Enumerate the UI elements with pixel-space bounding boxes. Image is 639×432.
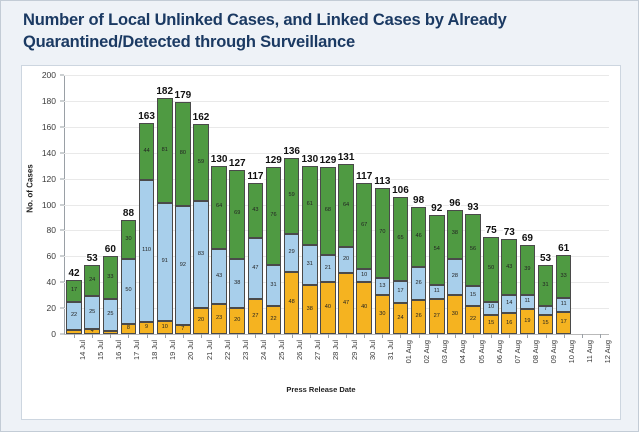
x-axis-tick-mark [237,334,238,338]
bar-column[interactable]: 22155693 [465,75,481,334]
bar-segment-value: 17 [397,289,403,295]
bar-segment-blue[interactable]: 20 [338,247,354,273]
bar-column[interactable]: 1573153 [538,75,554,334]
bar-segment-orange[interactable]: 20 [229,308,245,334]
bar-segment-orange[interactable]: 17 [556,312,572,334]
x-axis-tick-label: 03 Aug [440,340,449,363]
x-axis-tick-mark [74,334,75,338]
bar-total-label: 92 [431,203,443,214]
bar-column[interactable]: 16144373 [501,75,517,334]
bar-segment-value: 46 [415,234,421,240]
bar-segment-green[interactable]: 64 [211,166,227,249]
bar-segment-value: 26 [415,281,421,287]
bar-segment-orange[interactable]: 15 [483,315,499,334]
bar-segment-value: 24 [397,316,403,322]
bar-segment-value: 69 [234,211,240,217]
bar-segment-value: 20 [343,257,349,263]
bar-segment-value: 7 [544,307,547,313]
bar-segment-value: 70 [379,230,385,236]
bar-segment-green[interactable]: 31 [538,265,554,305]
bar-column[interactable]: 241765106 [393,75,409,334]
bar-segment-value: 20 [198,318,204,324]
y-axis-tick-label: 100 [22,200,56,210]
x-axis-tick-mark [147,334,148,338]
bar-column[interactable]: 223176129 [266,75,282,334]
x-axis-tick-mark [491,334,492,338]
bar-segment-value: 11 [524,299,530,305]
bar-column[interactable]: 17113361 [556,75,572,334]
bar-total-label: 162 [192,112,210,123]
x-axis-tick-mark [310,334,311,338]
bar-segment-blue[interactable]: 11 [429,285,445,299]
bar-segment-orange[interactable]: 40 [320,282,336,334]
x-axis-tick-label: 19 Jul [168,340,177,360]
bar-total-label: 106 [392,185,410,196]
bar-segment-orange[interactable]: 30 [375,295,391,334]
bar-segment-blue[interactable]: 31 [302,245,318,285]
bar-total-label: 136 [283,146,301,157]
x-axis-tick-label: 23 Jul [241,340,250,360]
y-axis-tick-label: 20 [22,303,56,313]
bar-column[interactable]: 79280179 [175,75,191,334]
bar-segment-value: 7 [181,327,184,333]
x-axis-tick-mark [546,334,547,338]
bar-series-container: 2217424252453253360850308891104416310918… [65,75,609,334]
bar-segment-orange[interactable]: 20 [193,308,209,334]
x-axis-tick-label: 02 Aug [422,340,431,363]
bar-segment-orange[interactable]: 47 [338,273,354,334]
bar-segment-value: 15 [542,321,548,327]
bar-segment-orange[interactable]: 22 [266,306,282,334]
x-axis-tick-mark [201,334,202,338]
bar-segment-green[interactable]: 43 [501,239,517,295]
bar-segment-green[interactable]: 56 [465,214,481,287]
x-axis-tick-label: 14 Jul [78,340,87,360]
x-axis-tick-label: 17 Jul [132,340,141,360]
x-axis-tick-label: 21 Jul [205,340,214,360]
x-axis-tick-mark [292,334,293,338]
bar-segment-value: 22 [470,317,476,323]
bar-total-label: 130 [210,154,228,165]
x-axis-tick-mark [110,334,111,338]
x-axis-tick-label: 27 Jul [313,340,322,360]
x-axis-title: Press Release Date [22,385,620,394]
bar-segment-value: 16 [506,321,512,327]
bar-segment-value: 50 [125,288,131,294]
bar-segment-value: 25 [89,310,95,316]
bar-total-label: 179 [174,90,192,101]
x-axis-tick-label: 08 Aug [531,340,540,363]
bar-column[interactable]: 30283896 [447,75,463,334]
bar-segment-orange[interactable]: 8 [121,324,137,334]
bar-segment-value: 30 [452,312,458,318]
bar-segment-orange[interactable]: 30 [447,295,463,334]
bar-segment-orange[interactable]: 48 [284,272,300,334]
bar-segment-value: 67 [361,223,367,229]
y-axis-tick-label: 160 [22,122,56,132]
bar-column[interactable]: 203869127 [229,75,245,334]
x-axis-tick-mark [274,334,275,338]
bar-segment-value: 31 [542,283,548,289]
x-axis-tick-mark [328,334,329,338]
y-axis-tick-label: 80 [22,225,56,235]
bar-total-label: 60 [104,244,116,255]
bar-segment-value: 10 [488,305,494,311]
bar-segment-value: 59 [289,193,295,199]
y-axis-tick-labels: 020406080100120140160180200 [22,66,62,336]
bar-segment-green[interactable]: 50 [483,237,499,302]
bar-total-label: 53 [539,253,551,264]
bar-segment-value: 38 [452,231,458,237]
x-axis-tick-label: 06 Aug [495,340,504,363]
bar-segment-blue[interactable]: 38 [229,259,245,308]
bar-segment-value: 17 [71,288,77,294]
bar-segment-green[interactable]: 43 [248,183,264,239]
bar-total-label: 42 [68,268,80,279]
bar-segment-value: 30 [379,312,385,318]
bar-column[interactable]: 911044163 [139,75,155,334]
y-axis-tick-label: 140 [22,148,56,158]
bar-segment-blue[interactable]: 83 [193,201,209,308]
bar-segment-value: 26 [415,314,421,320]
bar-total-label: 88 [122,208,134,219]
y-axis-tick-label: 120 [22,174,56,184]
bar-total-label: 73 [503,227,515,238]
bar-segment-value: 59 [198,160,204,166]
bar-total-label: 127 [228,158,246,169]
bar-segment-blue[interactable]: 50 [121,259,137,324]
bar-segment-orange[interactable]: 27 [429,299,445,334]
bar-segment-value: 10 [162,325,168,331]
bar-segment-green[interactable]: 59 [193,124,209,200]
bar-segment-value: 25 [107,312,113,318]
bar-segment-orange[interactable]: 10 [157,321,173,334]
x-axis-tick-labels: 14 Jul15 Jul16 Jul17 Jul18 Jul19 Jul20 J… [65,340,609,382]
x-axis-tick-mark [509,334,510,338]
bar-segment-orange[interactable]: 38 [302,285,318,334]
bar-total-label: 182 [156,86,174,97]
bar-segment-value: 22 [71,313,77,319]
chart-page: Number of Local Unlinked Cases, and Link… [0,0,639,432]
bar-segment-green[interactable]: 30 [121,220,137,259]
x-axis-tick-label: 07 Aug [513,340,522,363]
bar-segment-value: 31 [307,262,313,268]
bar-segment-blue[interactable]: 91 [157,203,173,321]
bar-segment-orange[interactable]: 24 [393,303,409,334]
x-axis-tick-mark [92,334,93,338]
bar-segment-blue[interactable]: 11 [520,295,536,309]
bar-segment-value: 48 [289,300,295,306]
bar-total-label: 53 [86,253,98,264]
bar-segment-value: 31 [270,283,276,289]
bar-segment-value: 33 [107,275,113,281]
y-axis-tick-label: 40 [22,277,56,287]
bar-segment-green[interactable]: 54 [429,215,445,285]
bar-segment-green[interactable]: 80 [175,102,191,206]
x-axis-tick-label: 22 Jul [223,340,232,360]
bar-segment-value: 65 [397,236,403,242]
x-axis-tick-label: 18 Jul [150,340,159,360]
x-axis-tick-mark [346,334,347,338]
x-axis-tick-label: 29 Jul [350,340,359,360]
bar-total-label: 129 [319,155,337,166]
bar-segment-green[interactable]: 76 [266,167,282,265]
bar-column[interactable]: 482959136 [284,75,300,334]
bar-column[interactable]: 253360 [103,75,119,334]
bar-segment-value: 29 [289,250,295,256]
bar-total-label: 69 [521,233,533,244]
bar-segment-value: 76 [270,213,276,219]
bar-segment-green[interactable]: 39 [520,245,536,296]
x-axis-tick-label: 31 Jul [386,340,395,360]
bar-segment-blue[interactable]: 17 [393,281,409,303]
bar-segment-value: 40 [361,305,367,311]
bar-segment-value: 13 [379,284,385,290]
bar-segment-blue[interactable]: 25 [103,299,119,331]
bar-segment-green[interactable]: 68 [320,167,336,255]
bar-total-label: 96 [449,198,461,209]
bar-segment-blue[interactable]: 7 [538,306,554,315]
bar-segment-green[interactable]: 33 [556,255,572,298]
bar-segment-blue[interactable]: 25 [84,296,100,328]
bar-segment-value: 64 [216,204,222,210]
x-axis-tick-label: 09 Aug [549,340,558,363]
x-axis-tick-mark [255,334,256,338]
bar-segment-value: 43 [216,274,222,280]
bar-segment-value: 83 [198,252,204,258]
bar-segment-green[interactable]: 64 [338,164,354,247]
x-axis-tick-mark [437,334,438,338]
bar-segment-value: 43 [252,208,258,214]
bar-segment-value: 15 [488,321,494,327]
x-axis-tick-mark [564,334,565,338]
bar-column[interactable]: 234364130 [211,75,227,334]
y-axis-tick-label: 60 [22,251,56,261]
x-axis-tick-label: 16 Jul [114,340,123,360]
bar-segment-orange[interactable]: 27 [248,299,264,334]
bar-segment-blue[interactable]: 28 [447,259,463,295]
x-axis-tick-mark [382,334,383,338]
x-axis-tick-label: 04 Aug [458,340,467,363]
x-axis-tick-label: 05 Aug [477,340,486,363]
bar-segment-value: 81 [162,148,168,154]
bar-column[interactable]: 27115492 [429,75,445,334]
bar-total-label: 93 [467,202,479,213]
x-axis-tick-label: 25 Jul [277,340,286,360]
bar-column[interactable]: 301370113 [375,75,391,334]
bar-segment-value: 44 [143,149,149,155]
bar-segment-blue[interactable]: 26 [411,267,427,301]
bar-segment-value: 56 [470,247,476,253]
bar-segment-value: 91 [162,259,168,265]
bar-column[interactable]: 19113969 [520,75,536,334]
bar-segment-value: 54 [434,247,440,253]
bar-segment-value: 24 [89,278,95,284]
bar-segment-green[interactable]: 38 [447,210,463,259]
bar-segment-green[interactable]: 65 [393,197,409,281]
bar-segment-value: 9 [145,325,148,331]
bar-segment-value: 68 [325,208,331,214]
bar-segment-value: 28 [452,274,458,280]
bar-segment-value: 11 [561,302,567,308]
x-axis-tick-label: 26 Jul [295,340,304,360]
bar-column[interactable]: 383161130 [302,75,318,334]
bar-total-label: 75 [485,225,497,236]
bar-segment-value: 110 [142,248,151,254]
bar-segment-green[interactable]: 24 [84,265,100,296]
bar-segment-value: 64 [343,203,349,209]
bar-total-label: 163 [138,111,156,122]
bar-total-label: 117 [356,171,373,182]
bar-segment-blue[interactable]: 11 [556,298,572,312]
bar-segment-blue[interactable]: 22 [66,302,82,330]
bar-segment-value: 39 [524,267,530,273]
x-axis-tick-mark [183,334,184,338]
y-axis-tick-label: 180 [22,96,56,106]
bar-segment-value: 27 [434,314,440,320]
bar-column[interactable]: 8503088 [121,75,137,334]
bar-total-label: 130 [301,154,319,165]
bar-segment-blue[interactable]: 29 [284,234,300,272]
x-axis-tick-mark [219,334,220,338]
bar-total-label: 61 [558,243,570,254]
bar-segment-value: 23 [216,316,222,322]
bar-column[interactable]: 401067117 [356,75,372,334]
bar-column[interactable]: 221742 [66,75,82,334]
bar-segment-green[interactable]: 69 [229,170,245,259]
bar-column[interactable]: 109181182 [157,75,173,334]
bar-column[interactable]: 4252453 [84,75,100,334]
bar-segment-green[interactable]: 81 [157,98,173,203]
x-axis-tick-label: 30 Jul [368,340,377,360]
bar-segment-value: 14 [506,301,512,307]
bar-segment-value: 43 [506,265,512,271]
bar-segment-value: 38 [307,307,313,313]
bar-segment-value: 19 [524,319,530,325]
bar-segment-value: 38 [234,281,240,287]
y-axis-tick-label: 0 [22,329,56,339]
bar-segment-orange[interactable]: 19 [520,309,536,334]
bar-segment-blue[interactable]: 10 [356,269,372,282]
bar-column[interactable]: 26264698 [411,75,427,334]
bar-segment-green[interactable]: 46 [411,207,427,267]
bar-segment-value: 47 [343,301,349,307]
chart-plot-area: No. of Cases 020406080100120140160180200… [21,65,621,420]
bar-segment-blue[interactable]: 31 [266,265,282,305]
bar-segment-value: 40 [325,305,331,311]
bar-total-label: 117 [247,171,264,182]
bar-total-label: 98 [413,195,425,206]
bar-segment-blue[interactable]: 110 [139,180,155,322]
bar-segment-orange[interactable]: 26 [411,300,427,334]
bar-segment-value: 30 [125,237,131,243]
bar-segment-blue[interactable]: 92 [175,206,191,325]
bar-segment-green[interactable]: 33 [103,256,119,299]
bar-segment-green[interactable]: 44 [139,123,155,180]
bar-segment-blue[interactable]: 14 [501,295,517,313]
bar-segment-value: 22 [270,317,276,323]
bar-column[interactable]: 472064131 [338,75,354,334]
bar-segment-blue[interactable]: 13 [375,278,391,295]
bar-segment-value: 11 [434,289,440,295]
x-axis-tick-label: 01 Aug [404,340,413,363]
bar-segment-green[interactable]: 17 [66,280,82,302]
bar-segment-value: 33 [561,274,567,280]
bar-segment-value: 27 [252,314,258,320]
bar-segment-orange[interactable]: 40 [356,282,372,334]
x-axis-tick-mark [165,334,166,338]
x-axis-tick-label: 24 Jul [259,340,268,360]
bar-segment-value: 92 [180,263,186,269]
bar-segment-value: 10 [361,273,367,279]
bar-segment-orange[interactable]: 7 [175,325,191,334]
bar-segment-blue[interactable]: 10 [483,302,499,315]
bar-segment-orange[interactable]: 23 [211,304,227,334]
y-axis-tick-label: 200 [22,70,56,80]
bar-column[interactable]: 15105075 [483,75,499,334]
bar-segment-blue[interactable]: 47 [248,238,264,299]
bar-column[interactable]: 402168129 [320,75,336,334]
bar-segment-orange[interactable]: 9 [139,322,155,334]
bar-segment-value: 47 [252,266,258,272]
bar-segment-green[interactable]: 67 [356,183,372,270]
x-axis-tick-label: 11 Aug [585,340,594,363]
bar-segment-green[interactable]: 70 [375,188,391,279]
bar-segment-green[interactable]: 59 [284,158,300,234]
x-axis-tick-mark [419,334,420,338]
x-axis-tick-label: 28 Jul [331,340,340,360]
x-axis-tick-mark [455,334,456,338]
x-axis-tick-mark [364,334,365,338]
bar-segment-value: 50 [488,266,494,272]
page-title: Number of Local Unlinked Cases, and Link… [23,9,623,54]
x-axis-tick-label: 15 Jul [96,340,105,360]
bar-segment-value: 20 [234,318,240,324]
x-axis-tick-mark [527,334,528,338]
x-axis-tick-label: 12 Aug [603,340,612,363]
x-axis-tick-mark [400,334,401,338]
bar-segment-value: 8 [127,326,130,332]
bar-segment-orange[interactable]: 15 [538,315,554,334]
bar-column[interactable]: 274743117 [248,75,264,334]
bar-column[interactable]: 208359162 [193,75,209,334]
x-axis-tick-mark [582,334,583,338]
x-axis-tick-mark [473,334,474,338]
x-axis-tick-label: 20 Jul [186,340,195,360]
bar-total-label: 113 [374,176,391,187]
bar-segment-blue[interactable]: 15 [465,286,481,305]
bar-segment-orange[interactable]: 16 [501,313,517,334]
bar-segment-blue[interactable]: 21 [320,255,336,282]
bar-segment-value: 21 [325,266,331,272]
x-axis-tick-label: 10 Aug [567,340,576,363]
bar-total-label: 131 [337,152,355,163]
bar-segment-value: 80 [180,151,186,157]
x-axis-tick-mark [128,334,129,338]
x-axis-tick-mark [600,334,601,338]
bar-segment-orange[interactable]: 22 [465,306,481,334]
bar-total-label: 129 [265,155,283,166]
bar-segment-value: 61 [307,202,313,208]
bar-segment-value: 17 [561,320,567,326]
bar-segment-green[interactable]: 61 [302,166,318,245]
bar-segment-value: 15 [470,293,476,299]
bar-segment-blue[interactable]: 43 [211,249,227,305]
